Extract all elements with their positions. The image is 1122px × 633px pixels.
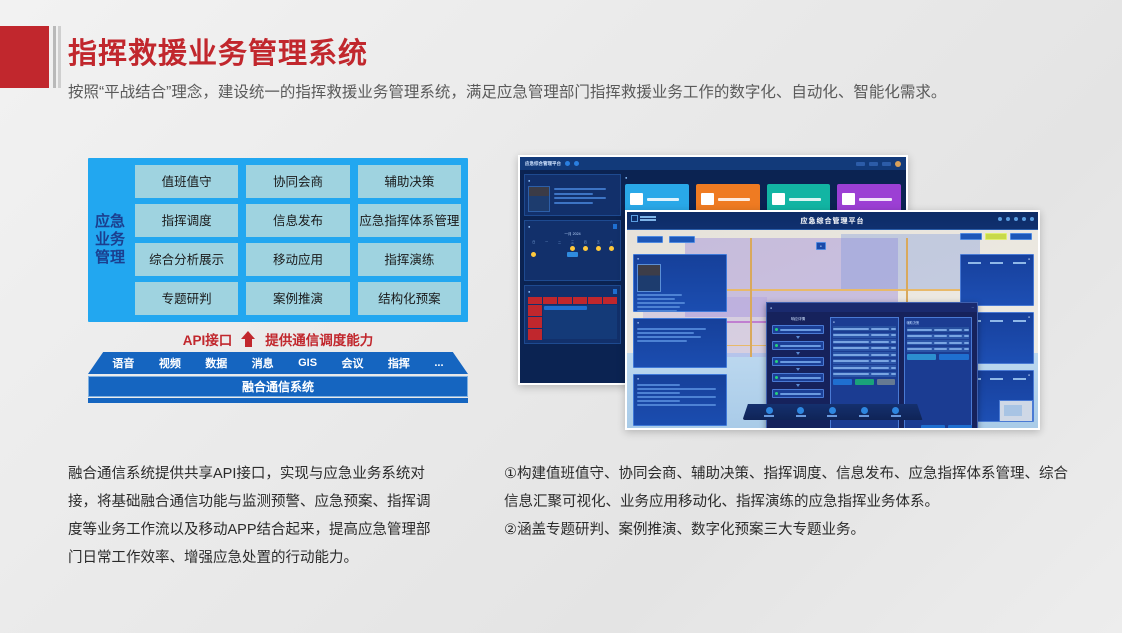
back-menu-item[interactable] [856, 162, 865, 166]
table-row [833, 359, 896, 364]
close-icon[interactable]: ─ [972, 306, 974, 310]
avatar[interactable] [1030, 217, 1034, 221]
back-titlebar-right [856, 161, 901, 167]
flow-step[interactable] [772, 341, 824, 350]
toolbar-item[interactable] [796, 407, 806, 417]
side-resource-panel: ● [960, 254, 1034, 306]
dialog-cancel-button[interactable] [948, 425, 972, 428]
checkbox-icon [701, 193, 714, 205]
schedule-row-content [543, 305, 617, 339]
quick-action-label [718, 198, 750, 201]
officer-details [554, 186, 617, 212]
minimap[interactable] [999, 400, 1033, 422]
back-menu-item[interactable] [882, 162, 891, 166]
table-header-row [833, 326, 896, 331]
table-row [833, 352, 896, 357]
duty-officer-user [528, 186, 617, 212]
flow-step[interactable] [772, 357, 824, 366]
flow-step[interactable] [772, 389, 824, 398]
capability-item: 指挥 [388, 355, 410, 371]
business-cell[interactable]: 值班值守 [135, 165, 238, 198]
quick-action-label [859, 198, 891, 201]
duty-officer-card-header: ● [528, 178, 617, 183]
front-nav-icon[interactable] [998, 217, 1002, 221]
front-nav-icon[interactable] [1006, 217, 1010, 221]
back-menu-item[interactable] [869, 162, 878, 166]
capability-trapezoid: 语音 视频 数据 消息 GIS 会议 指挥 ... [88, 352, 468, 374]
back-app-title: 应急综合管理平台 [525, 161, 561, 167]
api-interface-row: API接口 提供通信调度能力 [88, 328, 468, 350]
duty-calendar-card: ● 一月 2024 日一二三四五六 [524, 220, 621, 281]
api-label: API接口 [183, 329, 233, 349]
nearby-resource-panel: ● [633, 374, 727, 426]
paragraph-right: ①构建值班值守、协同会商、辅助决策、指挥调度、信息发布、应急指挥体系管理、综合信… [504, 460, 1074, 544]
pane-button[interactable] [877, 379, 896, 385]
avatar[interactable] [895, 161, 901, 167]
pane-button[interactable] [833, 379, 852, 385]
business-diagram: 应急业务管理 值班值守 协同会商 辅助决策 指挥调度 信息发布 应急指挥体系管理… [88, 158, 468, 403]
clock-icon [631, 215, 638, 222]
map-marker-label[interactable]: ● [816, 242, 826, 250]
front-app-title: 应急综合管理平台 [801, 216, 865, 226]
business-side-label: 应急业务管理 [95, 165, 129, 315]
business-cell[interactable]: 结构化预案 [358, 282, 461, 315]
pane-button[interactable] [855, 379, 874, 385]
resource-panel-header: ● [634, 375, 726, 382]
quick-action-label [647, 198, 679, 201]
contact-info-panel: ● [633, 254, 727, 312]
toolbar-item[interactable] [827, 407, 837, 417]
table-row [833, 372, 896, 377]
capability-item: GIS [298, 357, 317, 369]
today-schedule-card: ● [524, 285, 621, 344]
up-arrow-icon [241, 331, 256, 347]
fusion-system-base [88, 398, 468, 403]
map-bottom-toolbar [743, 404, 923, 420]
back-nav-dot-icon[interactable] [565, 161, 570, 166]
table-row [907, 340, 970, 345]
minimap-viewport [1004, 405, 1022, 416]
map-toolbar-button[interactable] [637, 236, 663, 243]
capability-item: 视频 [159, 355, 181, 371]
event-info-panel: ● [633, 318, 727, 368]
toolbar-item[interactable] [764, 407, 774, 417]
capability-item: 会议 [341, 355, 363, 371]
flow-arrow-icon [796, 336, 800, 339]
flow-arrow-icon [796, 368, 800, 371]
table-row [833, 339, 896, 344]
screenshot-mockups: 应急综合管理平台 ● [500, 140, 1122, 440]
back-titlebar: 应急综合管理平台 [520, 157, 906, 170]
flow-title: 响应详情 [791, 317, 805, 322]
event-panel-header: ● [634, 319, 726, 326]
flow-step[interactable] [772, 373, 824, 382]
event-panel-body [634, 326, 726, 345]
flow-arrow-icon [796, 384, 800, 387]
quick-actions-header: ● [625, 175, 901, 180]
capability-item: 数据 [205, 355, 227, 371]
screenshot-front: 应急综合管理平台 ● ● ● [625, 210, 1040, 430]
toolbar-item[interactable] [859, 407, 869, 417]
front-datetime [640, 216, 656, 221]
front-titlebar-right [998, 217, 1034, 221]
schedule-action-button[interactable] [613, 289, 617, 294]
business-cell[interactable]: 案例推演 [246, 282, 349, 315]
table-header-row [907, 327, 970, 332]
business-cell[interactable]: 指挥演练 [358, 243, 461, 276]
table-row [833, 365, 896, 370]
dialog-footer-buttons [921, 425, 972, 428]
resource-table[interactable] [833, 326, 896, 377]
table-row [907, 347, 970, 352]
page-subtitle: 按照“平战结合”理念，建设统一的指挥救援业务管理系统，满足应急管理部门指挥救援业… [68, 78, 1068, 108]
business-cell[interactable]: 辅助决策 [358, 165, 461, 198]
fusion-system-bar: 融合通信系统 [88, 376, 468, 397]
map-road [750, 238, 752, 357]
table-row [907, 334, 970, 339]
front-map-area[interactable]: ● ● ● ● ● [627, 230, 1038, 428]
business-cell[interactable]: 应急指挥体系管理 [358, 204, 461, 237]
map-layer-tab[interactable] [960, 233, 982, 240]
header-divider-bar-1 [53, 26, 56, 88]
pane-buttons [833, 379, 896, 385]
header-divider-bar-2 [58, 26, 61, 88]
officer-photo [528, 186, 550, 212]
business-cell[interactable]: 协同会商 [246, 165, 349, 198]
side-panel-header: ● [961, 255, 1033, 262]
flow-arrow-icon [796, 352, 800, 355]
capability-item: 消息 [252, 355, 274, 371]
calendar-month-label: 一月 2024 [528, 232, 617, 237]
capability-trapezoid-wrap: 语音 视频 数据 消息 GIS 会议 指挥 ... [88, 352, 468, 374]
calendar-action-button[interactable] [613, 224, 617, 229]
pane-button[interactable] [939, 354, 969, 360]
pane-button[interactable] [907, 354, 937, 360]
business-cell[interactable]: 移动应用 [246, 243, 349, 276]
front-nav-icon[interactable] [1022, 217, 1026, 221]
table-row [833, 333, 896, 338]
paragraph-left: 融合通信系统提供共享API接口，实现与应急业务系统对接，将基础融合通信功能与监测… [68, 460, 438, 572]
api-capability-label: 提供通信调度能力 [265, 329, 373, 349]
map-layer-tab[interactable] [1010, 233, 1032, 240]
back-nav-dot-icon[interactable] [574, 161, 579, 166]
page-title: 指挥救援业务管理系统 [68, 30, 368, 72]
schedule-card-header: ● [528, 289, 617, 294]
map-toolbar-button[interactable] [669, 236, 695, 243]
document-icon [772, 193, 785, 205]
pane-buttons [907, 354, 970, 360]
header-red-block [0, 26, 49, 88]
quick-action-label [789, 198, 821, 201]
front-titlebar-left [631, 215, 656, 222]
front-titlebar: 应急综合管理平台 [627, 212, 1038, 230]
calendar-card-header: ● [528, 224, 617, 229]
duty-officer-card: ● [524, 174, 621, 216]
business-cell[interactable]: 综合分析展示 [135, 243, 238, 276]
business-cell[interactable]: 指挥调度 [135, 204, 238, 237]
capability-item: 语音 [112, 355, 134, 371]
business-module-box: 应急业务管理 值班值守 协同会商 辅助决策 指挥调度 信息发布 应急指挥体系管理… [88, 158, 468, 322]
schedule-chip[interactable] [544, 306, 587, 310]
map-layer-tab-active[interactable] [985, 233, 1007, 240]
clipboard-icon [842, 193, 855, 205]
contact-photo [637, 264, 661, 292]
pane-title: ● [833, 320, 896, 324]
capability-item: ... [434, 357, 443, 369]
calendar-grid[interactable]: 日一二三四五六 [528, 239, 617, 277]
dialog-confirm-button[interactable] [921, 425, 945, 428]
flow-step[interactable] [772, 325, 824, 334]
map-layer-tabs [960, 233, 1032, 240]
inbox-icon [630, 193, 643, 205]
back-left-column: ● ● 一月 2024 日一二三四五六 [520, 170, 625, 383]
pane-title: 辅助决策 [907, 320, 970, 325]
business-cell[interactable]: 专题研判 [135, 282, 238, 315]
schedule-table-header [528, 297, 617, 304]
contact-panel-body [634, 262, 726, 315]
schedule-row-labels [528, 305, 542, 340]
contact-panel-header: ● [634, 255, 726, 262]
schedule-table-rows [528, 305, 617, 340]
resource-panel-body [634, 382, 726, 409]
side-panel-columns [961, 262, 1033, 266]
business-cell-grid: 值班值守 协同会商 辅助决策 指挥调度 信息发布 应急指挥体系管理 综合分析展示… [135, 165, 461, 315]
dispatch-table[interactable] [907, 327, 970, 352]
business-cell[interactable]: 信息发布 [246, 204, 349, 237]
dialog-titlebar: ● ─ [767, 303, 977, 312]
front-nav-icon[interactable] [1014, 217, 1018, 221]
toolbar-item[interactable] [891, 407, 901, 417]
table-row [833, 346, 896, 351]
